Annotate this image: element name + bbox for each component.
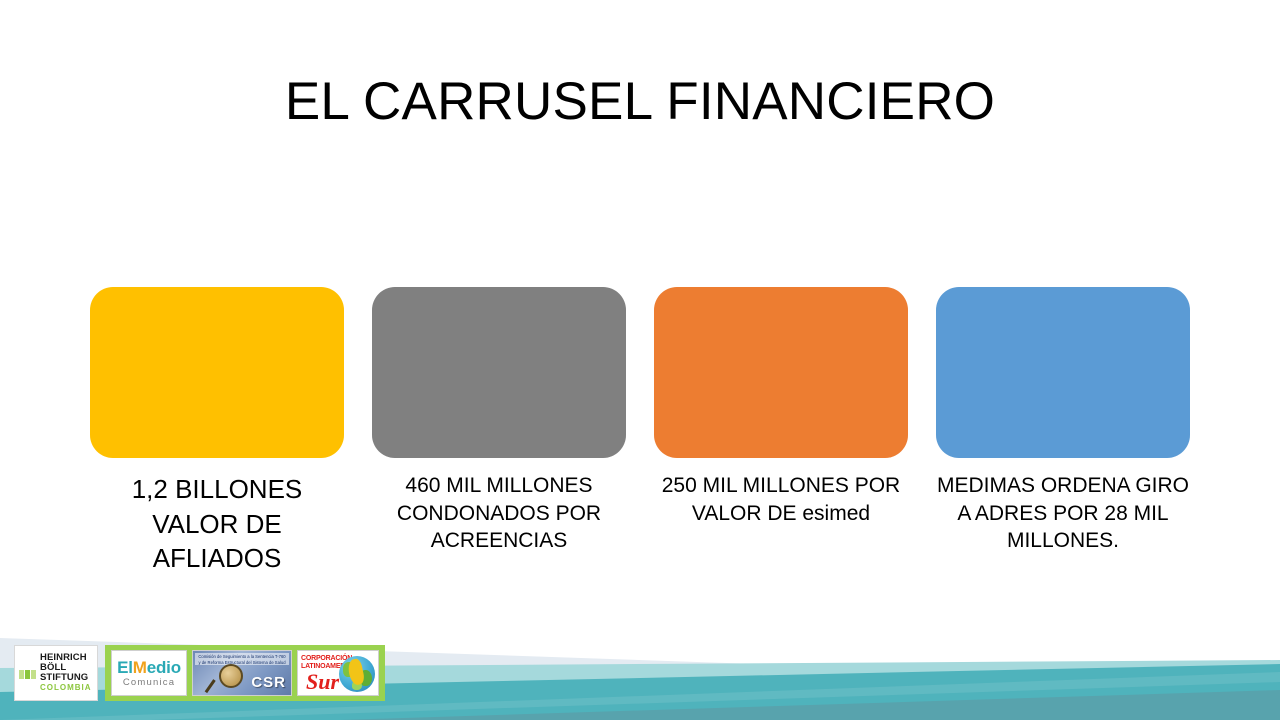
- hbs-line-4: COLOMBIA: [40, 684, 92, 692]
- green-logo-panel: ElMedio Comunica Comisión de Seguimiento…: [105, 645, 385, 701]
- box-blue[interactable]: [936, 287, 1190, 458]
- caption-box-blue: MEDIMAS ORDENA GIRO A ADRES POR 28 MIL M…: [936, 472, 1190, 555]
- logo-el-medio-comunica: ElMedio Comunica: [111, 650, 187, 696]
- sur-script-word: Sur: [306, 671, 339, 693]
- wave-shape-deep-teal: [340, 690, 1280, 720]
- el-medio-wordmark: ElMedio: [117, 659, 181, 676]
- el-medio-word-edio: edio: [147, 658, 181, 677]
- logo-heinrich-boll-stiftung: HEINRICH BÖLL STIFTUNG COLOMBIA: [14, 645, 98, 701]
- caption-box-yellow: 1,2 BILLONES VALOR DE AFLIADOS: [90, 472, 344, 576]
- page-title: EL CARRUSEL FINANCIERO: [0, 72, 1280, 131]
- box-yellow[interactable]: [90, 287, 344, 458]
- el-medio-word-el: El: [117, 658, 133, 677]
- caption-box-gray: 460 MIL MILLONES CONDONADOS POR ACREENCI…: [372, 472, 626, 555]
- box-row: [90, 287, 1190, 458]
- magnifying-glass-handle-icon: [205, 679, 216, 693]
- globe-icon: [339, 656, 375, 692]
- magnifying-glass-icon: [219, 664, 243, 688]
- el-medio-word-m: M: [133, 658, 147, 677]
- hbs-wordmark: HEINRICH BÖLL STIFTUNG COLOMBIA: [40, 653, 92, 692]
- csr-acronym: CSR: [251, 674, 286, 691]
- box-gray[interactable]: [372, 287, 626, 458]
- partner-logo-strip: HEINRICH BÖLL STIFTUNG COLOMBIA ElMedio …: [14, 645, 385, 701]
- caption-row: 1,2 BILLONES VALOR DE AFLIADOS 460 MIL M…: [90, 472, 1190, 576]
- csr-banner-text: Comisión de Seguimiento a la Sentencia T…: [195, 653, 289, 665]
- caption-box-orange: 250 MIL MILLONES POR VALOR DE esimed: [654, 472, 908, 527]
- logo-corporacion-latinoamericana-sur: CORPORACIÓN LATINOAMERICANA Sur: [297, 650, 379, 696]
- hbs-bars-icon: [19, 667, 36, 679]
- box-orange[interactable]: [654, 287, 908, 458]
- logo-csr: Comisión de Seguimiento a la Sentencia T…: [192, 650, 292, 696]
- hbs-line-3: STIFTUNG: [40, 673, 92, 683]
- flame-icon: [346, 658, 365, 686]
- slide-canvas: EL CARRUSEL FINANCIERO 1,2 BILLONES VALO…: [0, 0, 1280, 720]
- sur-backdrop: CORPORACIÓN LATINOAMERICANA Sur: [298, 651, 378, 695]
- csr-backdrop: Comisión de Seguimiento a la Sentencia T…: [193, 651, 291, 695]
- el-medio-subtitle: Comunica: [123, 677, 175, 688]
